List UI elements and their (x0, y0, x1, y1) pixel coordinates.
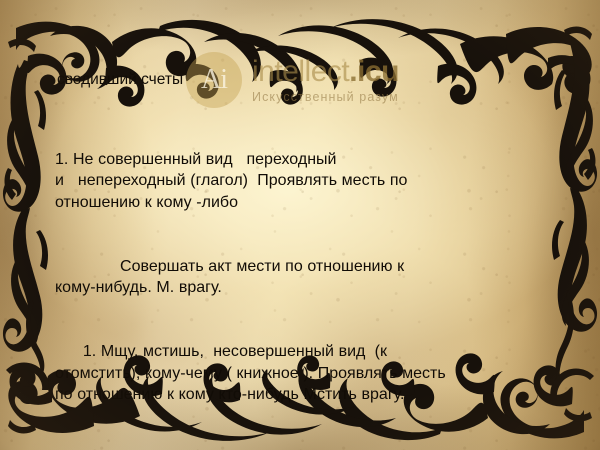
watermark-title: intellect.icu (252, 57, 399, 87)
watermark-badge-icon: Ai (186, 52, 242, 108)
watermark-badge-label: Ai (201, 66, 227, 94)
ornament-right-border (546, 40, 598, 400)
ornament-left-border (2, 60, 50, 390)
slide-canvas: Ai intellect.icu Искусственный разум сво… (0, 0, 600, 450)
watermark-title-light: intellect (252, 55, 349, 88)
body-paragraph: 1. Не совершенный вид переходный и непер… (55, 149, 547, 213)
body-paragraph: Совершать акт мести по отношению к кому-… (55, 256, 547, 299)
body-paragraph: 1. Мщу, мстишь, несовершенный вид (к ото… (55, 341, 547, 405)
watermark-subtitle: Искусственный разум (252, 91, 399, 104)
ornament-top-border (8, 12, 592, 108)
watermark-title-bold: .icu (349, 55, 399, 88)
page-title: сводивший счеты (57, 71, 183, 89)
watermark-wordmark: intellect.icu Искусственный разум (252, 57, 399, 104)
watermark-intellect-icu: Ai intellect.icu Искусственный разум (186, 52, 399, 108)
slide-body-text: 1. Не совершенный вид переходный и непер… (55, 106, 547, 450)
